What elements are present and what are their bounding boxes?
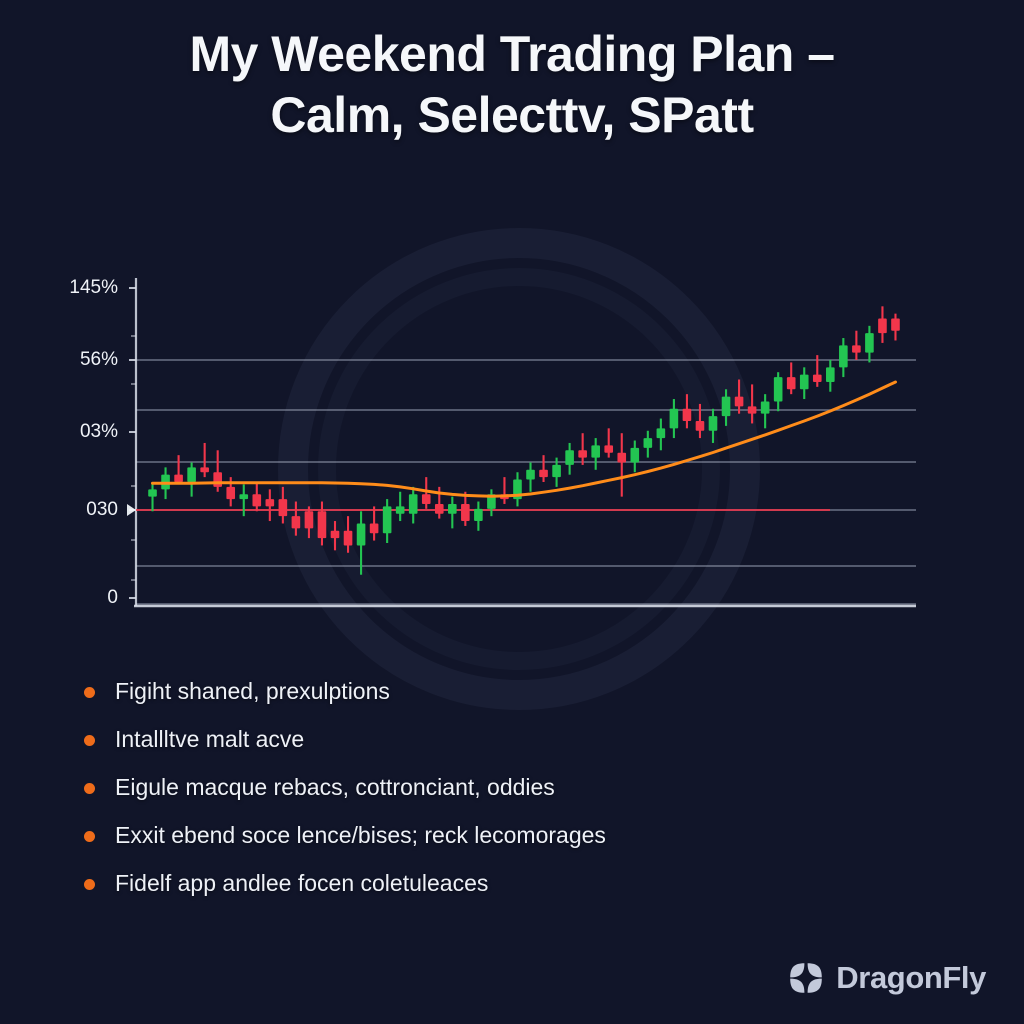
candle-body — [722, 397, 731, 417]
y-axis-tick-label: 0 — [107, 587, 118, 608]
candle-body — [826, 367, 835, 382]
candle-body — [670, 409, 679, 429]
title-line-1: My Weekend Trading Plan – — [189, 26, 834, 82]
moving-average-line — [153, 382, 896, 496]
slide-canvas: My Weekend Trading Plan – Calm, Selecttv… — [0, 0, 1024, 1024]
bullet-list: Figiht shaned, prexulptionsIntallltve ma… — [84, 668, 964, 908]
candle-body — [800, 375, 809, 390]
candle-body — [878, 319, 887, 334]
candle-body — [813, 375, 822, 382]
candle-body — [474, 509, 483, 521]
candle-body — [266, 499, 275, 506]
candle-body — [644, 438, 653, 448]
candle-body — [344, 531, 353, 546]
candle-body — [331, 531, 340, 538]
candle-body — [148, 489, 157, 496]
bullet-text: Figiht shaned, prexulptions — [115, 678, 390, 706]
candle-series — [148, 306, 900, 574]
bullet-item: Fidelf app andlee focen coletuleaces — [84, 860, 964, 908]
candle-body — [865, 333, 874, 353]
candle-body — [761, 401, 770, 413]
candle-body — [239, 494, 248, 499]
bullet-dot-icon — [84, 735, 95, 746]
candle-body — [852, 345, 861, 352]
bullet-dot-icon — [84, 879, 95, 890]
candle-body — [604, 445, 613, 452]
candle-body — [318, 511, 327, 538]
brand-logo: DragonFly — [789, 960, 986, 996]
candle-body — [187, 467, 196, 482]
candle-body — [383, 506, 392, 533]
candle-body — [213, 472, 222, 487]
title-line-2: Calm, Selecttv, SPatt — [46, 85, 978, 146]
y-axis-tick-label: 56% — [80, 349, 118, 370]
candle-body — [839, 345, 848, 367]
candle-body — [774, 377, 783, 401]
bullet-text: Eigule macque rebacs, cottronciant, oddi… — [115, 774, 555, 802]
candle-body — [370, 523, 379, 533]
candle-body — [630, 448, 639, 463]
chart-svg: 145%56%03%0300 — [0, 250, 1024, 630]
bullet-dot-icon — [84, 687, 95, 698]
bullet-dot-icon — [84, 783, 95, 794]
candle-body — [200, 467, 209, 472]
candle-body — [357, 523, 366, 545]
candle-body — [696, 421, 705, 431]
bullet-item: Figiht shaned, prexulptions — [84, 668, 964, 716]
candle-body — [292, 516, 301, 528]
bullet-text: Exxit ebend soce lence/bises; reck lecom… — [115, 822, 606, 850]
candle-body — [748, 406, 757, 413]
candle-body — [252, 494, 261, 506]
bullet-item: Eigule macque rebacs, cottronciant, oddi… — [84, 764, 964, 812]
candle-body — [526, 470, 535, 480]
candle-body — [422, 494, 431, 504]
candle-body — [305, 511, 314, 528]
four-petal-flower-icon — [789, 961, 823, 995]
y-axis-tick-label: 030 — [86, 499, 118, 520]
candle-body — [591, 445, 600, 457]
candlestick-chart: 145%56%03%0300 — [0, 250, 1024, 630]
candle-body — [617, 453, 626, 463]
candle-body — [709, 416, 718, 431]
candle-body — [396, 506, 405, 513]
bullet-text: Intallltve malt acve — [115, 726, 304, 754]
candle-body — [891, 319, 900, 331]
bullet-dot-icon — [84, 831, 95, 842]
candle-body — [174, 475, 183, 482]
bullet-item: Exxit ebend soce lence/bises; reck lecom… — [84, 812, 964, 860]
candle-body — [552, 465, 561, 477]
candle-body — [435, 504, 444, 514]
bullet-item: Intallltve malt acve — [84, 716, 964, 764]
candle-body — [539, 470, 548, 477]
chart-y-tick-labels: 145%56%03%0300 — [69, 277, 118, 608]
candle-body — [448, 504, 457, 514]
y-axis-tick-label: 145% — [69, 277, 118, 298]
candle-body — [226, 487, 235, 499]
candle-body — [279, 499, 288, 516]
brand-name: DragonFly — [836, 960, 986, 996]
candle-body — [657, 428, 666, 438]
bullet-text: Fidelf app andlee focen coletuleaces — [115, 870, 488, 898]
y-axis-tick-label: 03% — [80, 421, 118, 442]
candle-body — [461, 504, 470, 521]
candle-body — [578, 450, 587, 457]
slide-title: My Weekend Trading Plan – Calm, Selecttv… — [0, 24, 1024, 146]
candle-body — [565, 450, 574, 465]
candle-body — [787, 377, 796, 389]
candle-body — [409, 494, 418, 514]
chart-axes — [129, 278, 916, 606]
candle-body — [683, 409, 692, 421]
candle-body — [735, 397, 744, 407]
